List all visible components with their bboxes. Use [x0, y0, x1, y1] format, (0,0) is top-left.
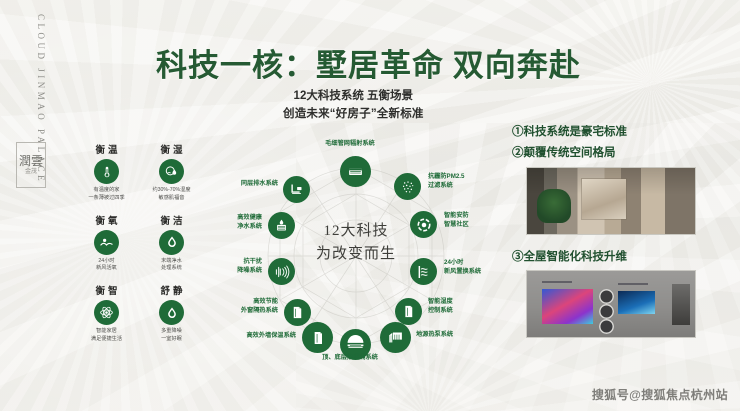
smart-tech-display-photo: [526, 270, 696, 338]
source-watermark: 搜狐号@搜狐焦点杭州站: [592, 386, 728, 403]
radial-node-capillary[interactable]: [340, 156, 371, 187]
radial-center-line-1: 12大科技: [316, 220, 396, 243]
smart-home-atom-icon: [94, 300, 119, 325]
radial-node-security[interactable]: [410, 211, 437, 238]
fresh-air-icon: [94, 230, 119, 255]
brand-vertical-text: CLOUD JINMAO PALACE: [30, 14, 52, 134]
subtitle-line-1: 12大科技系统 五衡场景: [283, 88, 424, 106]
radial-center-line-2: 为改变而生: [316, 243, 396, 266]
slide-canvas: CLOUD JINMAO PALACE 潤雲 金茂 科技一核：墅居革命 双向奔赴…: [0, 0, 740, 411]
radial-node-wall[interactable]: [302, 322, 333, 353]
tech-photo-screen-left: [542, 289, 592, 323]
subtitle-line-2: 创造未来“好房子”全新标准: [283, 106, 424, 124]
feature-item-hengwen: 衡温 有温度的家 一条薄被过四季: [78, 142, 135, 203]
radial-label-window: 高效节能 外窗隔热系统: [174, 298, 278, 316]
highlight-item-2: ②颠覆传统空间格局: [512, 145, 712, 162]
feature-caption-1: 智能家居: [96, 328, 117, 336]
radial-label-freshair: 24小时 新风置换系统: [444, 259, 481, 277]
radial-center-text: 12大科技 为改变而生: [316, 220, 396, 265]
feature-caption-2: 新风活氧: [96, 265, 117, 273]
feature-item-hengyang: 衡氧 24小时 新风活氧: [78, 213, 135, 274]
brand-logo-sub: 金茂: [25, 169, 37, 175]
feature-caption-2: 敏感肌福音: [159, 195, 185, 203]
feature-title: 衡智: [92, 283, 120, 297]
radial-node-noise[interactable]: [268, 258, 295, 285]
feature-title: 衡湿: [157, 142, 185, 156]
radial-node-window[interactable]: [284, 299, 311, 326]
radial-node-pm25[interactable]: [394, 173, 421, 200]
radial-label-drainage: 同层排水系统: [178, 180, 278, 189]
radial-label-security: 智能安防 智慧社区: [444, 212, 469, 230]
radial-node-geothermal[interactable]: [380, 322, 411, 353]
radial-label-water: 高效健康 净水系统: [166, 214, 262, 232]
feature-title: 衡温: [92, 142, 120, 156]
highlight-item-1: ①科技系统是豪宅标准: [512, 124, 712, 141]
radial-node-freshair[interactable]: [410, 258, 437, 285]
lobby-interior-photo: [526, 167, 696, 235]
right-highlights-panel: ①科技系统是豪宅标准 ②颠覆传统空间格局 ③全屋智能化科技升维: [512, 124, 712, 338]
page-title: 科技一核：墅居革命 双向奔赴: [156, 40, 581, 85]
brand-logo-main: 潤雲: [19, 155, 43, 168]
tech-photo-caption-bar-right: [618, 283, 648, 285]
page-subtitle: 12大科技系统 五衡场景 创造未来“好房子”全新标准: [283, 88, 424, 124]
highlight-item-3: ③全屋智能化科技升维: [512, 249, 712, 266]
radial-label-noise: 抗干扰 降噪系统: [168, 258, 262, 276]
feature-title: 舒静: [157, 283, 185, 297]
radial-node-water[interactable]: [268, 212, 295, 239]
tech-photo-control-buttons: [599, 289, 614, 323]
radial-label-capillary: 毛细管网辐射系统: [295, 140, 405, 149]
feature-item-hengshi: 衡湿 约30%-70%湿度 敏感肌福音: [143, 142, 200, 203]
feature-title: 衡氧: [92, 213, 120, 227]
radial-node-humidity[interactable]: [395, 298, 422, 325]
feature-caption-1: 有温度的家: [94, 187, 120, 195]
thermometer-icon: [94, 159, 119, 184]
radial-label-wall: 高效外墙保温系统: [170, 332, 296, 341]
feature-caption-2: 满足便捷生活: [91, 336, 122, 344]
radial-label-pm25: 抗霾防PM2.5 过滤系统: [428, 173, 464, 191]
radial-node-drainage[interactable]: [283, 176, 310, 203]
radial-diagram: 毛细管网辐射系统 同层排水系统 抗霾防PM2.5 过滤系统 高效健康 净水系统: [222, 132, 490, 370]
feature-item-hengzhi: 衡智 智能家居 满足便捷生活: [78, 283, 135, 344]
tech-photo-caption-bar-left: [542, 281, 572, 283]
water-drop-icon: [159, 230, 184, 255]
radial-label-humidity: 智能湿度 控制系统: [428, 298, 453, 316]
brand-logo-box: 潤雲 金茂: [16, 142, 46, 188]
tech-photo-screen-right: [618, 291, 655, 315]
feature-caption-2: 一条薄被过四季: [88, 195, 124, 203]
tech-photo-side-strip: [672, 284, 690, 325]
radial-label-roof: 顶、底层热阻隔系统: [285, 354, 415, 363]
radial-label-geothermal: 地源热泵系统: [416, 331, 453, 340]
